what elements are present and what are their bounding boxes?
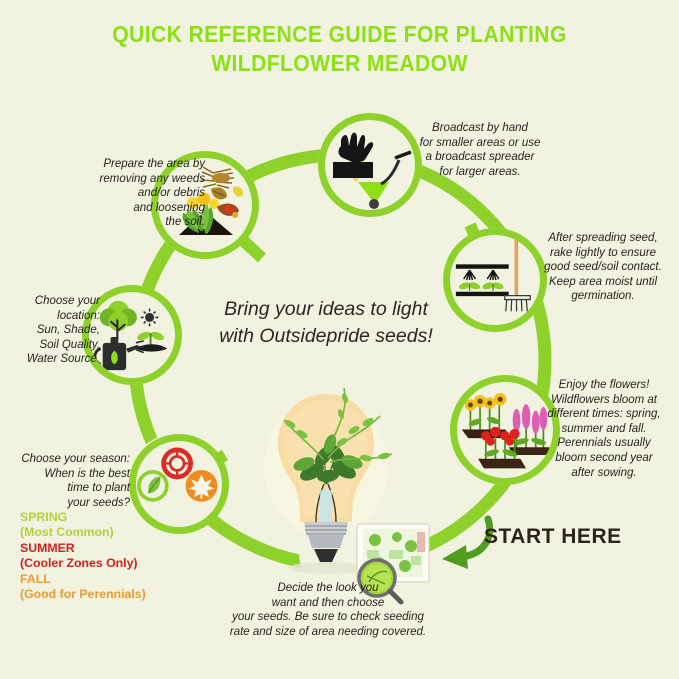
tagline-line-2: with Outsidepride seeds!	[178, 323, 474, 350]
season-summer-note: (Cooler Zones Only)	[20, 556, 195, 571]
caption-line: a broadcast spreader	[400, 150, 560, 165]
caption-line: bloom second year	[530, 451, 678, 466]
season-list: SPRING (Most Common) SUMMER (Cooler Zone…	[20, 510, 195, 602]
caption-rake-lightly: After spreading seed, rake lightly to en…	[528, 231, 678, 304]
caption-line: rake lightly to ensure	[528, 246, 678, 261]
caption-line: Keep area moist until	[528, 275, 678, 290]
tagline-line-1: Bring your ideas to light	[178, 296, 474, 323]
caption-line: for smaller areas or use	[400, 136, 560, 151]
start-here-label: START HERE	[484, 525, 622, 549]
caption-line: Sun, Shade,	[8, 323, 100, 338]
caption-line: your seeds?	[8, 496, 130, 511]
season-spring-note: (Most Common)	[20, 525, 195, 540]
caption-line: Soil Quality,	[8, 338, 100, 353]
caption-line: Perennials usually	[530, 436, 678, 451]
caption-line: Choose your	[8, 294, 100, 309]
caption-line: Prepare the area by	[40, 157, 205, 172]
caption-line: time to plant	[8, 481, 130, 496]
caption-line: Water Source.	[8, 352, 100, 367]
season-fall-note: (Good for Perennials)	[20, 587, 195, 602]
caption-line: for larger areas.	[400, 165, 560, 180]
caption-line: removing any weeds	[40, 172, 205, 187]
caption-line: summer and fall.	[530, 422, 678, 437]
caption-prepare-area: Prepare the area by removing any weeds a…	[40, 157, 205, 230]
caption-line: and loosening	[40, 201, 205, 216]
caption-choose-location: Choose your location: Sun, Shade, Soil Q…	[8, 294, 100, 367]
caption-line: and/or debris	[40, 186, 205, 201]
caption-line: after sowing.	[530, 466, 678, 481]
caption-line: location:	[8, 309, 100, 324]
caption-line: After spreading seed,	[528, 231, 678, 246]
caption-line: good seed/soil contact.	[528, 260, 678, 275]
caption-line: germination.	[528, 289, 678, 304]
caption-line: different times: spring,	[530, 407, 678, 422]
caption-line: your seeds. Be sure to check seeding	[178, 610, 478, 625]
caption-line: rate and size of area needing covered.	[178, 625, 478, 640]
caption-choose-season: Choose your season: When is the best tim…	[8, 452, 130, 510]
caption-line: Choose your season:	[8, 452, 130, 467]
caption-enjoy-flowers: Enjoy the flowers! Wildflowers bloom at …	[530, 378, 678, 480]
infographic-canvas: QUICK REFERENCE GUIDE FOR PLANTING WILDF…	[0, 0, 679, 679]
caption-decide-look: Decide the look you want and then choose…	[178, 581, 478, 639]
caption-line: Broadcast by hand	[400, 121, 560, 136]
caption-line: want and then choose	[178, 596, 478, 611]
season-spring-name: SPRING	[20, 510, 195, 525]
caption-line: Enjoy the flowers!	[530, 378, 678, 393]
season-fall-name: FALL	[20, 572, 195, 587]
tree-sun-wateringcan-icon	[89, 291, 175, 379]
caption-line: Decide the look you	[178, 581, 478, 596]
center-tagline: Bring your ideas to light with Outsidepr…	[178, 296, 474, 350]
caption-broadcast-seed: Broadcast by hand for smaller areas or u…	[400, 121, 560, 179]
caption-line: When is the best	[8, 467, 130, 482]
caption-line: the soil.	[40, 215, 205, 230]
caption-line: Wildflowers bloom at	[530, 393, 678, 408]
season-summer-name: SUMMER	[20, 541, 195, 556]
